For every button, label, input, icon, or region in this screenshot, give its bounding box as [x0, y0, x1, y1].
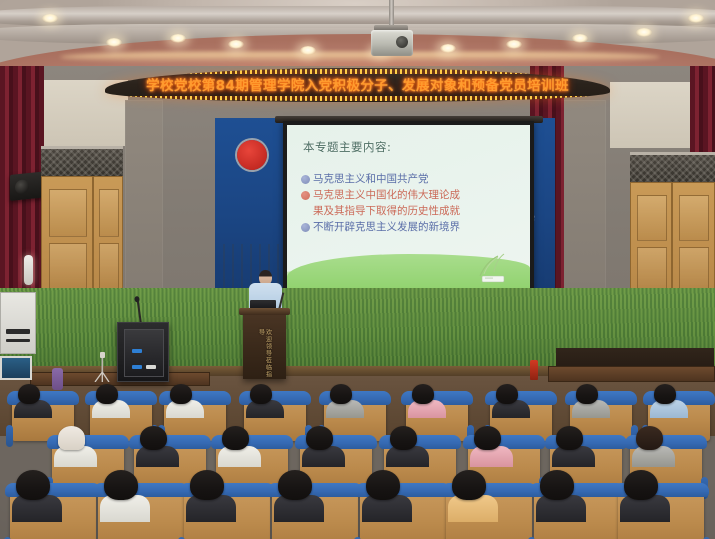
audience-member-head — [104, 470, 138, 500]
slide-bullet-text: 不断开辟克思主义发展的新境界 — [313, 221, 460, 234]
projector-lens-icon — [396, 36, 408, 48]
slide-title: 本专题主要内容: — [303, 139, 391, 155]
led-banner: 学校党校第84期管理学院入党积极分子、发展对象和预备党员培训班 — [105, 68, 610, 102]
presentation-slide: 本专题主要内容: 马克思主义和中国共产党马克思主义中国化的伟大理论成果及其指导下… — [287, 125, 530, 294]
slide-bullet-continuation-text: 果及其指导下取得的历史性成就 — [313, 205, 460, 218]
ceiling — [0, 0, 715, 72]
audience-member-head — [636, 426, 663, 450]
audience-member-head — [16, 470, 50, 500]
slide-bullet-list: 马克思主义和中国共产党马克思主义中国化的伟大理论成果及其指导下取得的历史性成就不… — [301, 173, 519, 237]
door-panel — [679, 195, 709, 241]
door-panel — [49, 189, 87, 237]
slide-corner-graphic-icon — [474, 250, 516, 284]
audience-seating — [0, 372, 715, 539]
audience-member-head — [452, 470, 486, 500]
audience-member-head — [474, 426, 501, 450]
party-emblem-icon — [237, 140, 267, 170]
bullet-dot-icon — [301, 223, 310, 232]
wall-sconce-left — [24, 255, 33, 285]
audience-member-head — [18, 384, 40, 404]
audience-member-head — [96, 384, 118, 404]
rack-indicator-icon — [132, 365, 142, 369]
audience-member-head — [366, 470, 400, 500]
ceiling-downlight-1 — [42, 14, 58, 23]
door-panel — [637, 247, 667, 293]
slide-bullet-text: 马克思主义中国化的伟大理论成 — [313, 189, 460, 202]
cabinet-slot-icon — [6, 339, 30, 342]
audience-member-head — [190, 470, 224, 500]
audience-member-head — [556, 426, 583, 450]
rack-interior — [124, 329, 164, 377]
door-transom-left — [41, 146, 123, 179]
podium: 欢迎领导莅临指导 — [243, 313, 286, 379]
audience-member-head — [412, 384, 434, 404]
audience-member-head — [390, 426, 417, 450]
door-panel — [99, 189, 119, 237]
ceiling-downlight-10 — [636, 28, 652, 37]
bullet-dot-icon — [301, 191, 310, 200]
audience-member-head — [306, 426, 333, 450]
door-transom-right — [630, 152, 715, 185]
audience-member-head — [540, 470, 574, 500]
door-panel — [99, 243, 119, 291]
audience-member-head — [278, 470, 312, 500]
ceiling-downlight-2 — [106, 38, 122, 47]
audience-member-head — [624, 470, 658, 500]
door-panel — [637, 195, 667, 241]
audience-member-head — [576, 384, 598, 404]
audience-member-head — [654, 384, 676, 404]
audience-member-head — [58, 426, 85, 450]
cove-light-strip — [60, 52, 660, 62]
ceiling-downlight-3 — [170, 34, 186, 43]
slide-bullet-2-continuation: 果及其指导下取得的历史性成就 — [301, 205, 519, 218]
grill-icon — [41, 149, 123, 179]
ceiling-downlight-4 — [228, 40, 244, 49]
projection-screen: 本专题主要内容: 马克思主义和中国共产党马克思主义中国化的伟大理论成果及其指导下… — [283, 121, 534, 298]
rack-indicator-icon — [146, 365, 156, 369]
audience-member-head — [222, 426, 249, 450]
banner-title-text: 学校党校第84期管理学院入党积极分子、发展对象和预备党员培训班 — [105, 68, 610, 101]
ceiling-downlight-5 — [300, 46, 316, 55]
rack-indicator-icon — [132, 349, 142, 353]
cabinet-slot-icon — [6, 329, 30, 334]
slide-bullet-3: 不断开辟克思主义发展的新境界 — [301, 221, 519, 234]
lecture-hall-photo: 学校党校第84期管理学院入党积极分子、发展对象和预备党员培训班 e 本专题主要内… — [0, 0, 715, 539]
projector-mount-stem — [389, 0, 394, 28]
slide-bullet-1: 马克思主义和中国共产党 — [301, 173, 519, 186]
ceiling-downlight-11 — [688, 14, 704, 23]
ceiling-downlight-8 — [506, 40, 522, 49]
bullet-dot-icon — [301, 175, 310, 184]
audience-member-head — [250, 384, 272, 404]
door-panel — [49, 243, 87, 291]
audience-member-head — [140, 426, 167, 450]
audience-member-head — [330, 384, 352, 404]
grill-icon — [630, 155, 715, 185]
podium-top-surface — [239, 308, 290, 315]
audience-member-head — [496, 384, 518, 404]
ceiling-downlight-9 — [572, 34, 588, 43]
door-panel — [679, 247, 709, 293]
ceiling-downlight-7 — [440, 44, 456, 53]
slide-bullet-2: 马克思主义中国化的伟大理论成 — [301, 189, 519, 202]
slide-bullet-text: 马克思主义和中国共产党 — [313, 173, 429, 186]
white-av-cabinet — [0, 292, 36, 354]
audience-member-head — [170, 384, 192, 404]
